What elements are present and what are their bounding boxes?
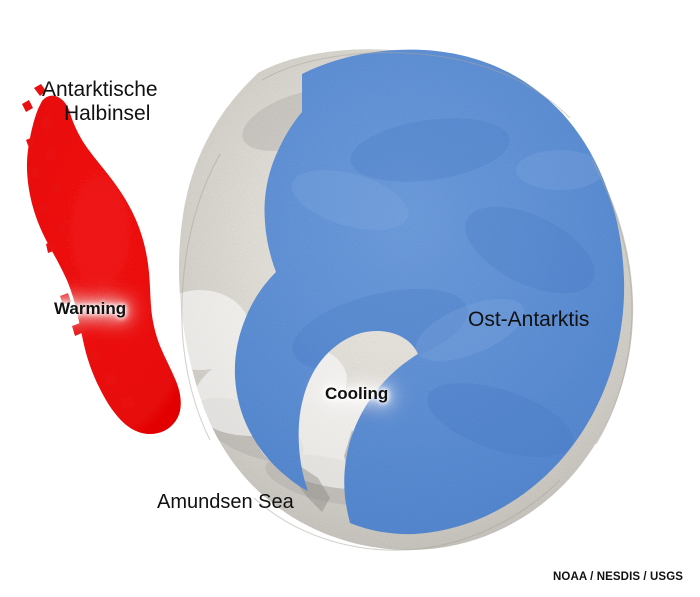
label-antarctic-peninsula: Antarktische Halbinsel	[42, 78, 158, 127]
label-warming: Warming	[54, 299, 126, 319]
antarctic-temperature-map-figure: Antarctic Temperature Trends	[0, 0, 700, 597]
label-cooling: Cooling	[325, 384, 388, 404]
label-antarctic-peninsula-line1: Antarktische	[42, 78, 158, 101]
label-amundsen-sea: Amundsen Sea	[157, 491, 294, 514]
label-east-antarctica: Ost-Antarktis	[468, 308, 589, 332]
source-credit: NOAA / NESDIS / USGS	[553, 571, 683, 583]
label-antarctic-peninsula-line2: Halbinsel	[42, 102, 158, 126]
